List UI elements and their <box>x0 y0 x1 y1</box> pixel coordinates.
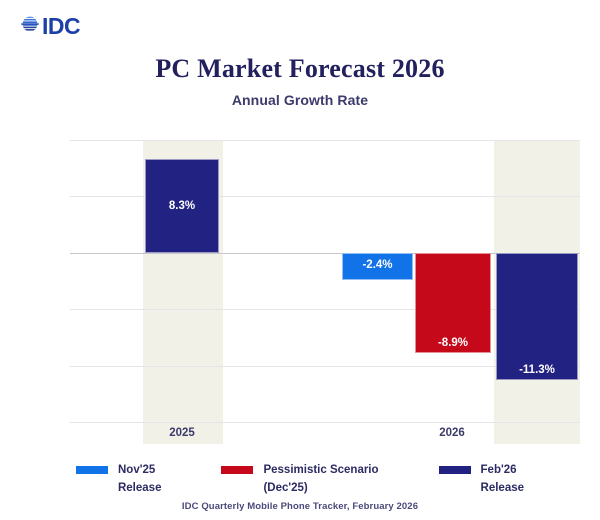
legend-swatch-icon <box>221 466 253 474</box>
legend-item[interactable]: Feb'26 Release <box>439 462 524 498</box>
legend-swatch-icon <box>76 466 108 474</box>
bar-value-label: 8.3% <box>169 200 195 212</box>
idc-wordmark: IDC <box>42 15 80 38</box>
legend-item-label: Nov'25 Release <box>118 462 161 498</box>
chart-subtitle: Annual Growth Rate <box>0 92 600 108</box>
bar-2025-feb-26-release[interactable]: 8.3% <box>145 159 219 253</box>
bar-2026-feb-26-release[interactable]: -11.3% <box>496 253 578 380</box>
bar-value-label: -8.9% <box>438 337 468 349</box>
gridline <box>70 140 580 141</box>
chart-legend: Nov'25 ReleasePessimistic Scenario (Dec'… <box>0 462 600 498</box>
bar-value-label: -11.3% <box>519 364 555 376</box>
idc-logo: IDC <box>20 14 80 39</box>
bar-2026-pessimistic-scenario-dec-25[interactable]: -8.9% <box>415 253 491 353</box>
bar-value-label: -2.4% <box>362 259 392 271</box>
idc-globe-icon <box>20 14 40 39</box>
source-note: IDC Quarterly Mobile Phone Tracker, Febr… <box>0 501 600 512</box>
gridline <box>70 422 580 423</box>
x-axis-label-2026: 2026 <box>439 427 465 439</box>
legend-item[interactable]: Pessimistic Scenario (Dec'25) <box>221 462 378 498</box>
legend-swatch-icon <box>439 466 471 474</box>
bar-2026-nov-25-release[interactable]: -2.4% <box>342 253 413 280</box>
x-axis-label-2025: 2025 <box>169 427 195 439</box>
legend-item[interactable]: Nov'25 Release <box>76 462 161 498</box>
legend-item-label: Feb'26 Release <box>481 462 524 498</box>
chart-plot-area: 10%5%0%-5%-10%-15%8.3%-2.4%-8.9%-11.3%20… <box>70 140 580 422</box>
page-title: PC Market Forecast 2026 <box>0 54 600 84</box>
legend-item-label: Pessimistic Scenario (Dec'25) <box>263 462 378 498</box>
